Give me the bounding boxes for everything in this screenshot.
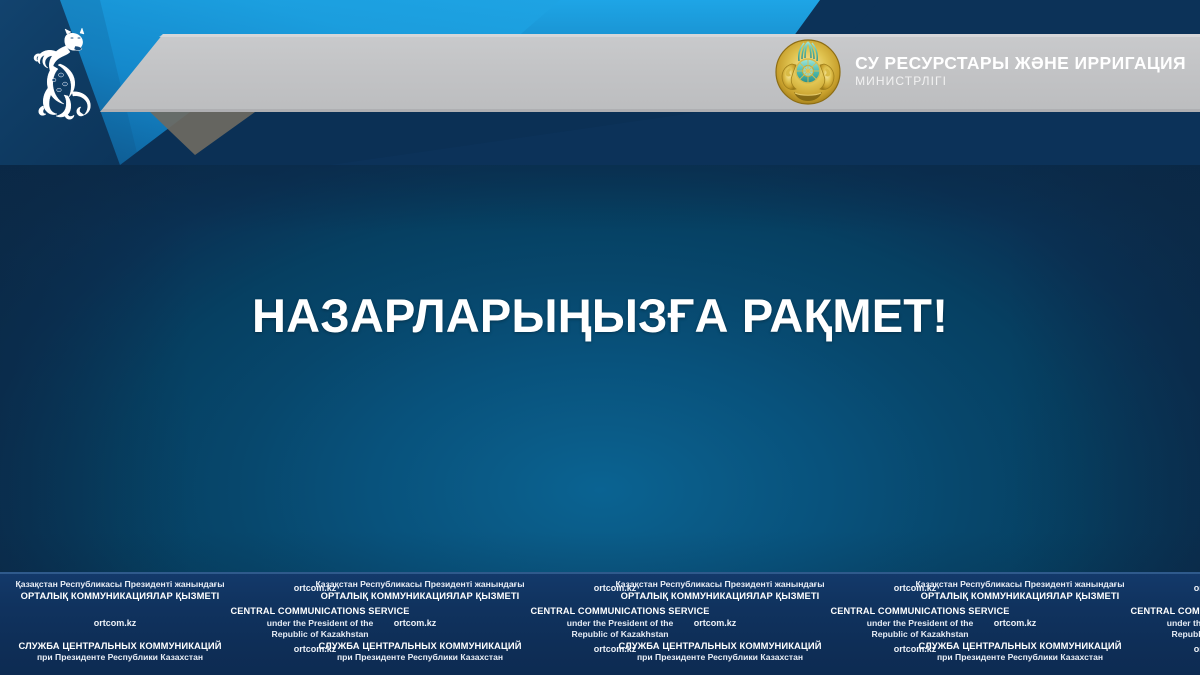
footer-ru-line2: при Президенте Республики Казахстан — [300, 652, 540, 663]
footer-kz-block: Қазақстан Республикасы Президенті жанынд… — [0, 579, 240, 601]
footer-kz-line1: Қазақстан Республикасы Президенті жанынд… — [600, 579, 840, 590]
footer-kz-line2: ОРТАЛЫҚ КОММУНИКАЦИЯЛАР ҚЫЗМЕТІ — [600, 590, 840, 602]
footer-ru-block: СЛУЖБА ЦЕНТРАЛЬНЫХ КОММУНИКАЦИЙпри Прези… — [300, 640, 540, 662]
footer-site-mid[interactable]: ortcom.kz — [340, 618, 490, 628]
snow-leopard-emblem — [24, 28, 100, 120]
footer-site-mid[interactable]: ortcom.kz — [40, 618, 190, 628]
footer-ru-block: СЛУЖБА ЦЕНТРАЛЬНЫХ КОММУНИКАЦИЙпри Прези… — [0, 640, 240, 662]
footer-kz-line2: ОРТАЛЫҚ КОММУНИКАЦИЯЛАР ҚЫЗМЕТІ — [300, 590, 540, 602]
footer-kz-line1: Қазақстан Республикасы Президенті жанынд… — [900, 579, 1140, 590]
title-container: НАЗАРЛАРЫҢЫЗҒА РАҚМЕТ! — [0, 288, 1200, 343]
footer-kz-line1: Қазақстан Республикасы Президенті жанынд… — [0, 579, 240, 590]
slide-title: НАЗАРЛАРЫҢЫЗҒА РАҚМЕТ! — [252, 288, 948, 343]
footer-ru-line2: при Президенте Республики Казахстан — [900, 652, 1140, 663]
footer-en-line3: Republic of Kazakhstan — [1070, 629, 1200, 640]
footer-ru-line1: СЛУЖБА ЦЕНТРАЛЬНЫХ КОММУНИКАЦИЙ — [0, 640, 240, 652]
footer-site-top[interactable]: ortcom.kz — [1140, 583, 1200, 593]
footer-ru-block: СЛУЖБА ЦЕНТРАЛЬНЫХ КОММУНИКАЦИЙпри Прези… — [900, 640, 1140, 662]
footer-kz-line1: Қазақстан Республикасы Президенті жанынд… — [300, 579, 540, 590]
ministry-logo-text: СУ РЕСУРСТАРЫ ЖӘНЕ ИРРИГАЦИЯ МИНИСТРЛІГІ — [855, 54, 1186, 90]
footer-watermark-tile: Қазақстан Республикасы Президенті жанынд… — [900, 574, 1200, 675]
slide-header: СУ РЕСУРСТАРЫ ЖӘНЕ ИРРИГАЦИЯ МИНИСТРЛІГІ — [0, 0, 1200, 165]
footer-watermark-tile: Қазақстан Республикасы Президенті жанынд… — [300, 574, 600, 675]
footer-site-mid[interactable]: ortcom.kz — [940, 618, 1090, 628]
footer-en-line1: CENTRAL COMMUNICATIONS SERVICE — [1070, 606, 1200, 618]
footer-kz-line2: ОРТАЛЫҚ КОММУНИКАЦИЯЛАР ҚЫЗМЕТІ — [900, 590, 1140, 602]
footer-ru-block: СЛУЖБА ЦЕНТРАЛЬНЫХ КОММУНИКАЦИЙпри Прези… — [600, 640, 840, 662]
ministry-name-line2: МИНИСТРЛІГІ — [855, 74, 1186, 90]
ministry-logo: СУ РЕСУРСТАРЫ ЖӘНЕ ИРРИГАЦИЯ МИНИСТРЛІГІ — [774, 38, 1186, 106]
footer-kz-block: Қазақстан Республикасы Президенті жанынд… — [300, 579, 540, 601]
footer-ru-line2: при Президенте Республики Казахстан — [600, 652, 840, 663]
footer-ru-line1: СЛУЖБА ЦЕНТРАЛЬНЫХ КОММУНИКАЦИЙ — [900, 640, 1140, 652]
footer-ru-line1: СЛУЖБА ЦЕНТРАЛЬНЫХ КОММУНИКАЦИЙ — [300, 640, 540, 652]
footer-kz-line2: ОРТАЛЫҚ КОММУНИКАЦИЯЛАР ҚЫЗМЕТІ — [0, 590, 240, 602]
footer-kz-block: Қазақстан Республикасы Президенті жанынд… — [600, 579, 840, 601]
footer-watermark-tile: Қазақстан Республикасы Президенті жанынд… — [600, 574, 900, 675]
footer-kz-block: Қазақстан Республикасы Президенті жанынд… — [900, 579, 1140, 601]
footer-ru-line2: при Президенте Республики Казахстан — [0, 652, 240, 663]
ministry-name-line1: СУ РЕСУРСТАРЫ ЖӘНЕ ИРРИГАЦИЯ — [855, 54, 1186, 72]
footer-site-bottom[interactable]: ortcom.kz — [1140, 644, 1200, 654]
footer-watermark-tile: Қазақстан Республикасы Президенті жанынд… — [0, 574, 300, 675]
presentation-slide: СУ РЕСУРСТАРЫ ЖӘНЕ ИРРИГАЦИЯ МИНИСТРЛІГІ… — [0, 0, 1200, 675]
footer-site-mid[interactable]: ortcom.kz — [640, 618, 790, 628]
footer-watermark-band: Қазақстан Республикасы Президенті жанынд… — [0, 572, 1200, 675]
kazakhstan-state-emblem — [774, 38, 842, 106]
footer-ru-line1: СЛУЖБА ЦЕНТРАЛЬНЫХ КОММУНИКАЦИЙ — [600, 640, 840, 652]
